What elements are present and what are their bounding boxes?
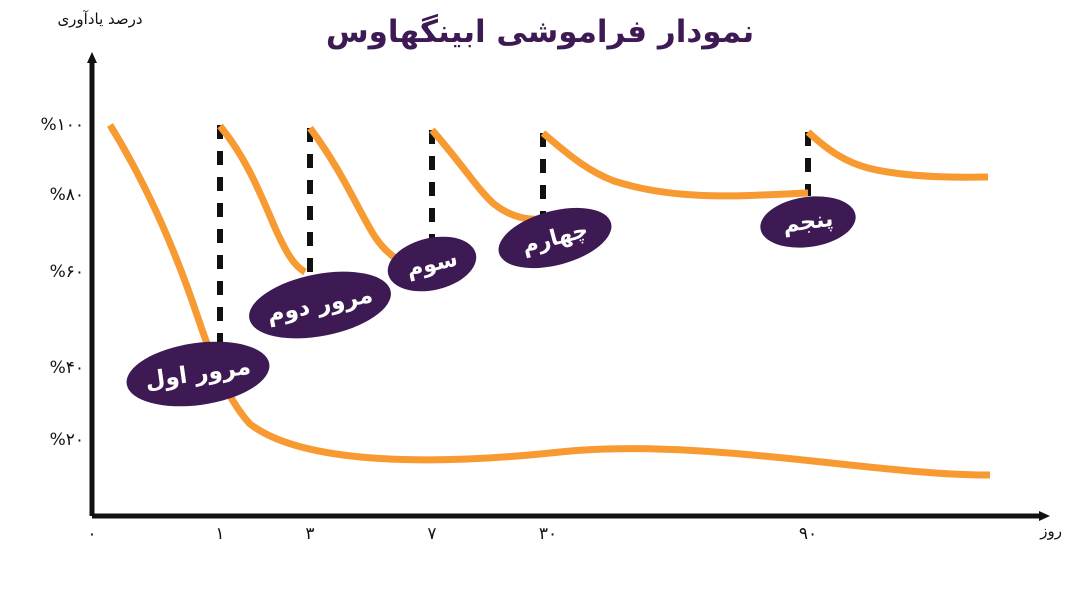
- forgetting-curve-after-review-5: [808, 132, 988, 177]
- forgetting-curve-after-review-4: [543, 133, 808, 196]
- forgetting-curve-base: [110, 125, 990, 475]
- forgetting-curve-after-review-1: [220, 126, 305, 272]
- forgetting-curve-chart: نمودار فراموشی ابینگهاوس درصد یادآوری رو…: [0, 0, 1080, 608]
- forgetting-curves: [110, 125, 990, 475]
- chart-canvas: [0, 0, 1080, 608]
- forgetting-curve-after-review-3: [432, 130, 543, 219]
